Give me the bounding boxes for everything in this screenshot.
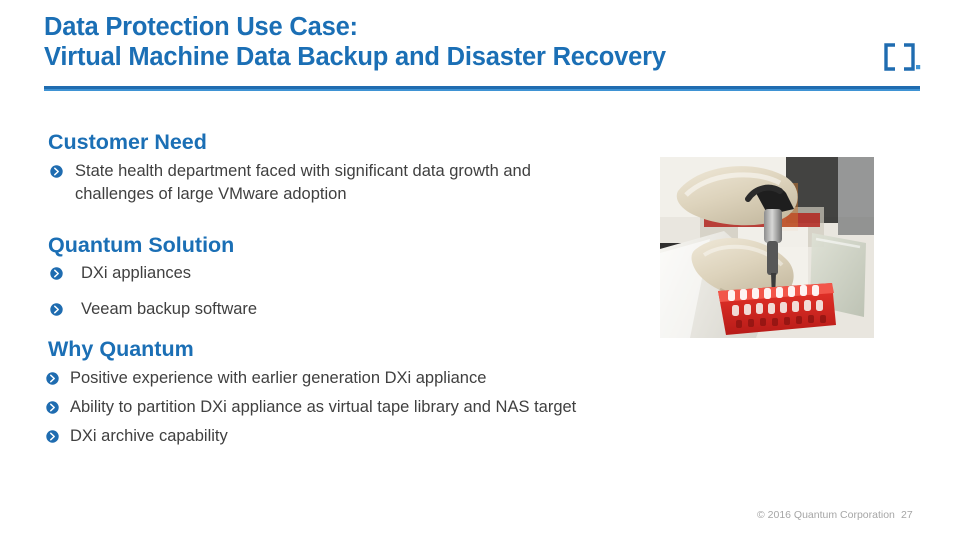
list-item-label: State health department faced with signi… — [75, 160, 570, 206]
list-item: Ability to partition DXi appliance as vi… — [46, 396, 726, 419]
footer-page-number: 27 — [901, 508, 913, 522]
quantum-bracket-logo-icon — [881, 43, 923, 71]
page-title-line-1: Data Protection Use Case: — [44, 12, 844, 42]
list-item-label: DXi archive capability — [70, 425, 726, 448]
bullet-list-quantum-solution: DXi appliances Veeam backup software — [50, 262, 480, 334]
list-item: Veeam backup software — [50, 298, 480, 321]
list-item-label: Ability to partition DXi appliance as vi… — [70, 396, 726, 419]
chevron-circle-bullet-icon — [46, 401, 59, 414]
bullet-list-customer-need: State health department faced with signi… — [50, 160, 570, 206]
page-title-line-2: Virtual Machine Data Backup and Disaster… — [44, 42, 844, 72]
list-item-label: Veeam backup software — [81, 298, 480, 321]
title-divider — [44, 86, 920, 91]
chevron-circle-bullet-icon — [50, 165, 63, 178]
chevron-circle-bullet-icon — [50, 267, 63, 280]
footer-copyright: © 2016 Quantum Corporation — [757, 508, 895, 522]
list-item-label: Positive experience with earlier generat… — [70, 367, 726, 390]
section-heading-quantum-solution: Quantum Solution — [48, 232, 234, 258]
chevron-circle-bullet-icon — [50, 303, 63, 316]
section-heading-why-quantum: Why Quantum — [48, 336, 194, 362]
list-item: DXi appliances — [50, 262, 480, 285]
section-heading-customer-need: Customer Need — [48, 129, 207, 155]
chevron-circle-bullet-icon — [46, 430, 59, 443]
list-item: State health department faced with signi… — [50, 160, 570, 206]
chevron-circle-bullet-icon — [46, 372, 59, 385]
list-item-label: DXi appliances — [81, 262, 480, 285]
list-item: Positive experience with earlier generat… — [46, 367, 726, 390]
page-title: Data Protection Use Case: Virtual Machin… — [44, 12, 844, 72]
bullet-list-why-quantum: Positive experience with earlier generat… — [46, 367, 726, 454]
list-item: DXi archive capability — [46, 425, 726, 448]
lab-pipetting-photo — [660, 157, 874, 338]
